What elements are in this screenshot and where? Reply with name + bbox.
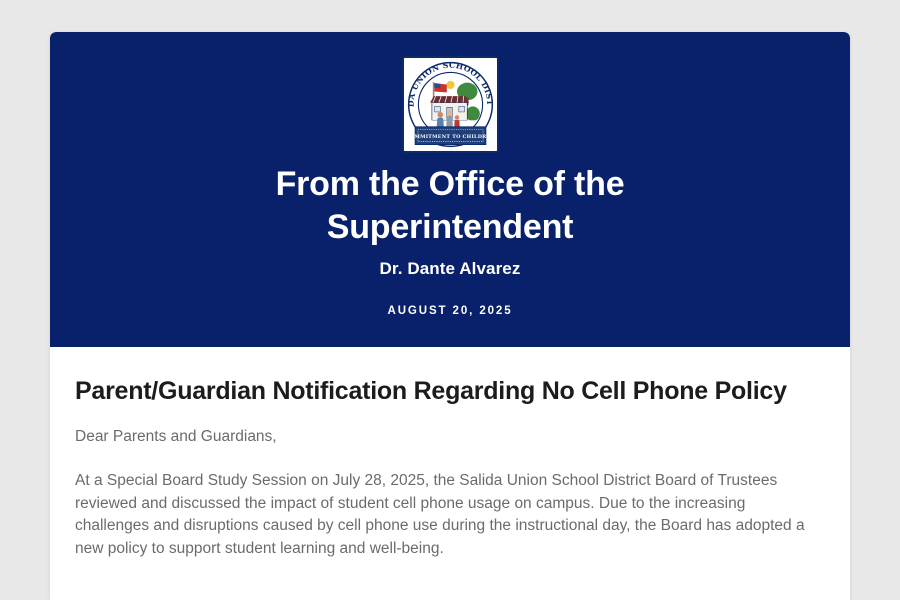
district-seal-icon: SALIDA UNION SCHOOL DISTRICT bbox=[402, 56, 499, 153]
svg-text:COMMITMENT TO CHILDREN: COMMITMENT TO CHILDREN bbox=[405, 134, 495, 140]
newsletter-card: SALIDA UNION SCHOOL DISTRICT bbox=[50, 32, 850, 600]
superintendent-name: Dr. Dante Alvarez bbox=[90, 259, 810, 279]
article-body: Parent/Guardian Notification Regarding N… bbox=[50, 347, 850, 600]
article-title: Parent/Guardian Notification Regarding N… bbox=[75, 375, 824, 408]
article-paragraph: At a Special Board Study Session on July… bbox=[75, 470, 823, 560]
masthead: SALIDA UNION SCHOOL DISTRICT bbox=[50, 32, 850, 347]
page-background: SALIDA UNION SCHOOL DISTRICT bbox=[0, 0, 900, 600]
issue-date: AUGUST 20, 2025 bbox=[90, 305, 810, 317]
masthead-title: From the Office of the Superintendent bbox=[190, 163, 710, 249]
article-greeting: Dear Parents and Guardians, bbox=[75, 426, 824, 448]
